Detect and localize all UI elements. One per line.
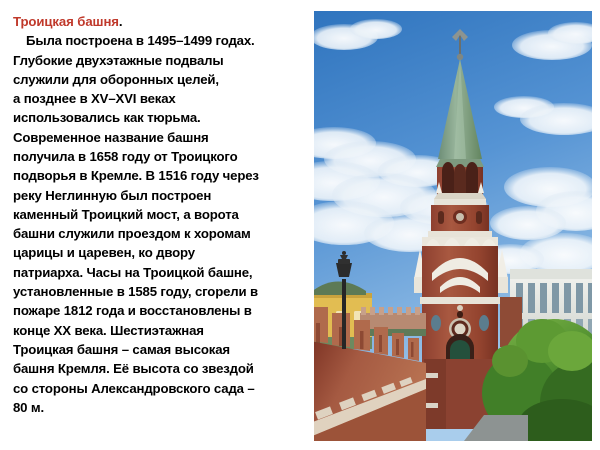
article-title-period: . <box>119 14 123 29</box>
body-line: подворья в Кремле. В 1516 году через <box>13 166 311 185</box>
body-line: конце XX века. Шестиэтажная <box>13 321 311 340</box>
body-line: Современное название башня <box>13 128 311 147</box>
article-title-text: Троицкая башня <box>13 14 119 29</box>
tower-photo <box>314 11 592 441</box>
slide-canvas: Троицкая башня. Была построена в 1495–14… <box>0 0 600 450</box>
tower-arcade-band <box>422 237 498 246</box>
body-line: установленные в 1585 году, сгорели в <box>13 282 311 301</box>
body-line: а позднее в XV–XVI веках <box>13 89 311 108</box>
body-line: получила в 1658 году от Троицкого <box>13 147 311 166</box>
article-text-column: Троицкая башня. Была построена в 1495–14… <box>13 12 311 412</box>
body-line: служили для оборонных целей, <box>13 70 311 89</box>
body-line: Троицкая башня – самая высокая <box>13 340 311 359</box>
body-line: царицы и царевен, ко двору <box>13 243 311 262</box>
body-line: со стороны Александровского сада – <box>13 379 311 398</box>
tower-belfry-upper <box>434 162 486 205</box>
body-line: использовались как тюрьма. <box>13 108 311 127</box>
article-body: Была построена в 1495–1499 годах. Глубок… <box>13 31 311 417</box>
body-line: реку Неглинную был построен <box>13 186 311 205</box>
kremlin-tower-illustration <box>314 11 592 441</box>
body-line: 80 м. <box>13 398 311 417</box>
body-line: Была построена в 1495–1499 годах. <box>13 31 311 50</box>
body-line: каменный Троицкий мост, а ворота <box>13 205 311 224</box>
body-line: пожаре 1812 года и восстановлены в <box>13 301 311 320</box>
tower-octagon-tier <box>428 205 492 237</box>
body-line: башни служили проездом к хоромам <box>13 224 311 243</box>
tower-main-body <box>420 246 500 364</box>
body-line: башня Кремля. Её высота со звездой <box>13 359 311 378</box>
page-title: Троицкая башня. <box>13 12 311 31</box>
body-line: Глубокие двухэтажные подвалы <box>13 51 311 70</box>
body-line: патриарха. Часы на Троицкой башне, <box>13 263 311 282</box>
